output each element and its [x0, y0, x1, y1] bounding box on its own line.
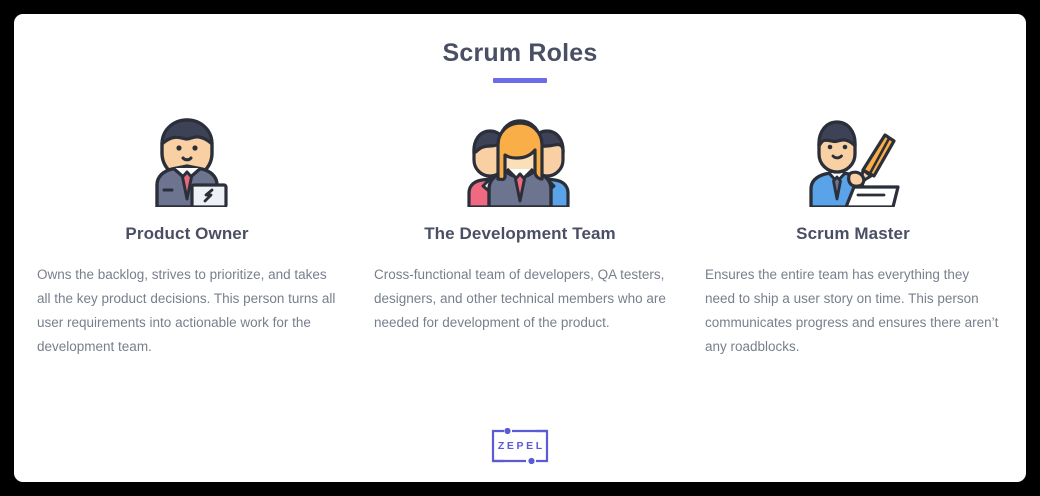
content-card: Scrum Roles: [14, 14, 1026, 482]
role-description-scrum-master: Ensures the entire team has everything t…: [705, 263, 1001, 359]
zepel-logo-text: ZEPEL: [490, 428, 550, 464]
product-owner-businessman-icon: [144, 111, 230, 207]
development-team-icon-container: [464, 105, 576, 207]
roles-row: Product Owner Owns the backlog, strives …: [14, 105, 1026, 359]
development-team-people-icon: [464, 117, 576, 207]
page-title: Scrum Roles: [14, 40, 1026, 68]
product-owner-icon-container: [144, 105, 230, 207]
role-description-development-team: Cross-functional team of developers, QA …: [374, 263, 666, 335]
role-description-product-owner: Owns the backlog, strives to prioritize,…: [37, 263, 337, 359]
role-column-scrum-master: Scrum Master Ensures the entire team has…: [698, 105, 1008, 359]
role-title-development-team: The Development Team: [424, 224, 616, 244]
role-column-development-team: The Development Team Cross-functional te…: [365, 105, 675, 359]
scrum-master-icon-container: [805, 105, 901, 207]
footer-logo-area: ZEPEL: [14, 428, 1026, 464]
scrum-master-writing-icon: [805, 113, 901, 207]
role-title-product-owner: Product Owner: [125, 224, 248, 244]
title-underline-accent: [493, 78, 547, 83]
page-header: Scrum Roles: [14, 14, 1026, 83]
role-column-product-owner: Product Owner Owns the backlog, strives …: [32, 105, 342, 359]
role-title-scrum-master: Scrum Master: [796, 224, 910, 244]
zepel-logo[interactable]: ZEPEL: [490, 428, 550, 464]
